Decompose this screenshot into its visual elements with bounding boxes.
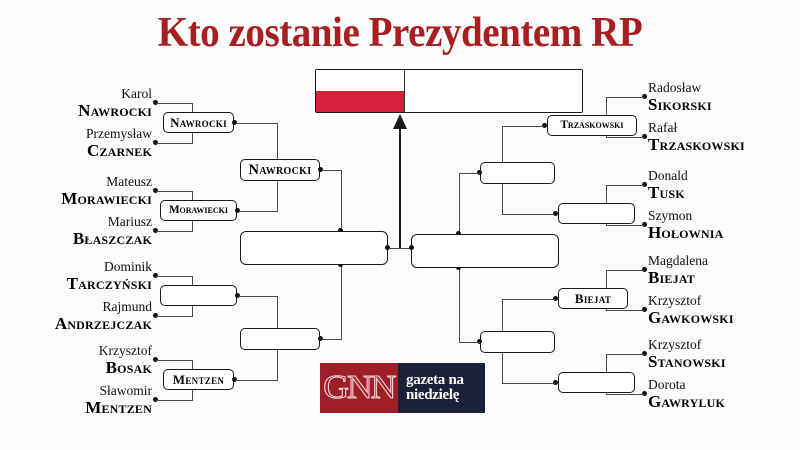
player-first-name: Sławomir	[85, 383, 152, 398]
player-last-name: Biejat	[648, 268, 708, 287]
connector	[606, 137, 644, 138]
bracket-slot-r2[interactable]: Nawrocki	[240, 159, 320, 181]
bracket-slot-r1[interactable]	[558, 203, 635, 224]
bracket-slot-r1[interactable]: Biejat	[558, 288, 628, 309]
connector	[156, 316, 193, 317]
logo-line-1: gazeta na	[406, 373, 464, 389]
connector	[606, 270, 644, 271]
champion-name-slot	[404, 70, 582, 112]
player-first-name: Donald	[648, 168, 688, 183]
page-title: Kto zostanie Prezydentem RP	[28, 8, 772, 58]
player-last-name: Mentzen	[85, 398, 152, 417]
player-first-name: Krzysztof	[648, 293, 734, 308]
player-block: Krzysztof Bosak	[99, 343, 152, 377]
bracket-slot-r1[interactable]: Mentzen	[163, 369, 234, 390]
player-last-name: Błaszczak	[73, 229, 152, 248]
final-arrow-shaft	[399, 128, 401, 248]
connector	[502, 214, 555, 215]
player-block: Krzysztof Gawkowski	[648, 293, 734, 327]
player-first-name: Przemysław	[86, 126, 152, 141]
connector	[156, 191, 193, 192]
player-block: Szymon Hołownia	[648, 208, 724, 242]
bracket-slot-r2[interactable]	[480, 162, 555, 184]
connector	[236, 123, 278, 124]
player-block: Magdalena Biejat	[648, 253, 708, 287]
player-block: Krzysztof Stanowski	[648, 337, 726, 371]
polish-flag-icon	[316, 70, 404, 112]
player-block: Sławomir Mentzen	[85, 383, 152, 417]
connector	[236, 380, 278, 381]
player-last-name: Hołownia	[648, 223, 724, 242]
player-first-name: Mateusz	[61, 174, 152, 189]
bracket-infographic: Kto zostanie Prezydentem RP Karol Nawroc…	[0, 0, 800, 450]
slot-label: Nawrocki	[249, 163, 312, 178]
bracket-slot-r3[interactable]	[240, 231, 388, 265]
player-block: Przemysław Czarnek	[86, 126, 152, 160]
connector	[156, 360, 193, 361]
player-last-name: Trzaskowski	[648, 135, 745, 154]
connector	[606, 185, 644, 186]
player-last-name: Tarczyński	[67, 274, 152, 293]
connector	[322, 170, 342, 171]
player-first-name: Radosław	[648, 80, 712, 95]
connector	[502, 383, 555, 384]
slot-label: Biejat	[575, 292, 611, 305]
connector	[156, 103, 193, 104]
bracket-slot-r2[interactable]	[480, 331, 555, 353]
connector	[606, 97, 644, 98]
gnn-monogram-icon: GNN	[320, 363, 398, 413]
bracket-slot-r1[interactable]: Nawrocki	[163, 112, 234, 133]
connector	[606, 394, 644, 395]
player-block: Rafał Trzaskowski	[648, 120, 745, 154]
bracket-slot-r1[interactable]	[160, 285, 237, 306]
slot-label: Morawiecki	[169, 205, 228, 216]
flag-stripe-white	[316, 70, 404, 91]
final-arrow-head	[393, 114, 407, 129]
bracket-slot-r3[interactable]	[411, 234, 559, 268]
slot-label: Trzaskowski	[560, 120, 623, 131]
player-first-name: Krzysztof	[648, 337, 726, 352]
connector	[460, 342, 480, 343]
player-first-name: Rajmund	[55, 299, 152, 314]
publisher-logo[interactable]: GNN gazeta na niedzielę	[320, 363, 485, 413]
slot-label: Mentzen	[173, 373, 224, 386]
connector	[239, 211, 278, 212]
gnn-letters: GNN	[323, 371, 394, 405]
connector-dot	[409, 245, 414, 250]
player-last-name: Morawiecki	[61, 189, 152, 208]
player-last-name: Czarnek	[86, 141, 152, 160]
player-first-name: Dorota	[648, 377, 725, 392]
champion-box[interactable]	[315, 69, 583, 113]
player-block: Dorota Gawryluk	[648, 377, 725, 411]
player-first-name: Szymon	[648, 208, 724, 223]
bracket-slot-r1[interactable]: Morawiecki	[160, 200, 237, 221]
player-block: Dominik Tarczyński	[67, 259, 152, 293]
bracket-slot-r2[interactable]	[240, 328, 320, 350]
connector	[606, 310, 644, 311]
player-block: Mateusz Morawiecki	[61, 174, 152, 208]
player-last-name: Andrzejczak	[55, 314, 152, 333]
connector	[341, 265, 342, 340]
connector	[341, 170, 342, 232]
player-last-name: Tusk	[648, 183, 688, 202]
connector	[606, 225, 644, 226]
player-first-name: Mariusz	[73, 214, 152, 229]
connector	[389, 248, 411, 249]
player-last-name: Gawryluk	[648, 392, 725, 411]
connector	[502, 299, 555, 300]
player-first-name: Rafał	[648, 120, 745, 135]
connector	[459, 268, 460, 343]
player-block: Donald Tusk	[648, 168, 688, 202]
connector	[460, 173, 480, 174]
player-last-name: Gawkowski	[648, 308, 734, 327]
logo-line-2: niedzielę	[406, 388, 459, 404]
player-last-name: Nawrocki	[78, 101, 152, 120]
player-block: Radosław Sikorski	[648, 80, 712, 114]
player-block: Karol Nawrocki	[78, 86, 152, 120]
connector	[322, 339, 342, 340]
slot-label: Nawrocki	[170, 116, 227, 129]
flag-stripe-red	[316, 91, 404, 112]
connector	[156, 231, 193, 232]
player-block: Rajmund Andrzejczak	[55, 299, 152, 333]
connector	[502, 126, 544, 127]
player-first-name: Krzysztof	[99, 343, 152, 358]
player-first-name: Magdalena	[648, 253, 708, 268]
player-last-name: Stanowski	[648, 352, 726, 371]
player-last-name: Bosak	[99, 358, 152, 377]
connector	[156, 400, 193, 401]
bracket-slot-r1[interactable]: Trzaskowski	[547, 115, 637, 136]
player-first-name: Karol	[78, 86, 152, 101]
connector	[606, 354, 644, 355]
bracket-slot-r1[interactable]	[558, 372, 635, 393]
connector	[156, 276, 193, 277]
logo-wordmark: gazeta na niedzielę	[398, 363, 485, 413]
connector	[459, 173, 460, 235]
player-last-name: Sikorski	[648, 95, 712, 114]
player-first-name: Dominik	[67, 259, 152, 274]
player-block: Mariusz Błaszczak	[73, 214, 152, 248]
connector	[156, 143, 193, 144]
connector	[239, 296, 278, 297]
